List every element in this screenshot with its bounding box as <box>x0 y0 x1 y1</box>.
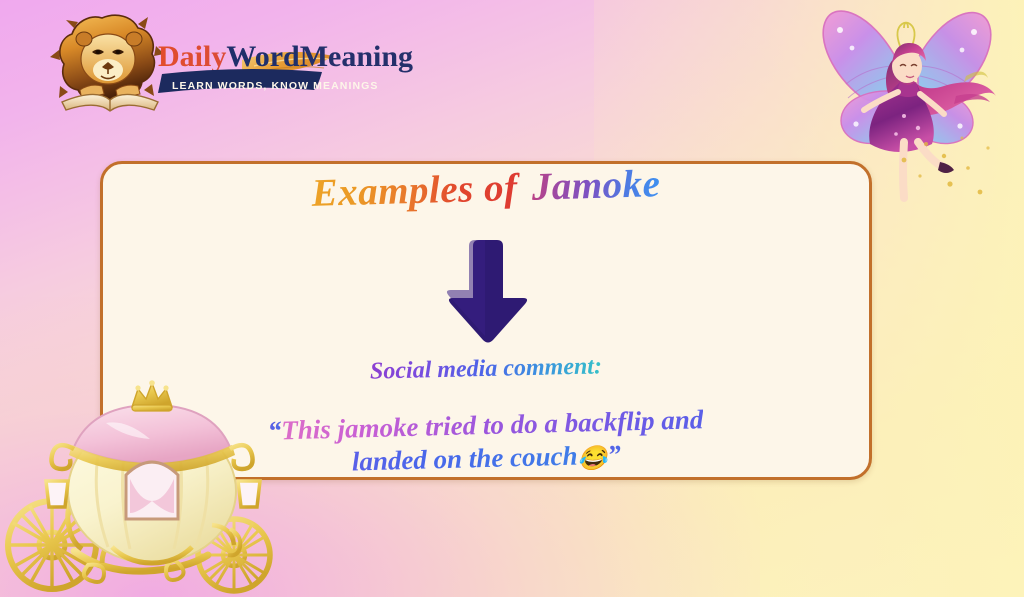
laughing-emoji-icon: 😂 <box>577 446 608 473</box>
logo-word-daily: Daily <box>158 40 226 73</box>
quote-close-mark: ” <box>607 439 621 469</box>
pumpkin-carriage-illustration <box>16 379 284 595</box>
page-title-word: Jamoke <box>529 162 663 209</box>
down-arrow-icon <box>103 236 869 344</box>
logo-word-word: Word <box>226 40 300 73</box>
svg-text:DailyWordMeaning: DailyWordMeaning <box>158 40 413 73</box>
logo-tagline: LEARN WORDS, KNOW MEANINGS <box>172 80 379 92</box>
page-title-prefix: Examples of <box>309 166 520 215</box>
butterfly-fairy-illustration <box>814 0 1010 208</box>
comment-type-label-text: Social media comment: <box>370 353 603 384</box>
quote-line-one: This jamoke tried to do a backflip and <box>281 404 704 445</box>
quote-line-two: landed on the couch <box>351 441 577 477</box>
poster-canvas: DailyWordMeaning LEARN WORDS, KNOW MEANI… <box>0 0 1024 597</box>
daily-word-meaning-logo[interactable]: DailyWordMeaning LEARN WORDS, KNOW MEANI… <box>46 6 336 110</box>
carriage-window <box>126 462 178 519</box>
page-title: Examples of Jamoke <box>103 155 870 221</box>
crown-icon <box>132 380 172 411</box>
lion-icon <box>50 15 164 102</box>
logo-word-meaning: Meaning <box>300 40 413 73</box>
